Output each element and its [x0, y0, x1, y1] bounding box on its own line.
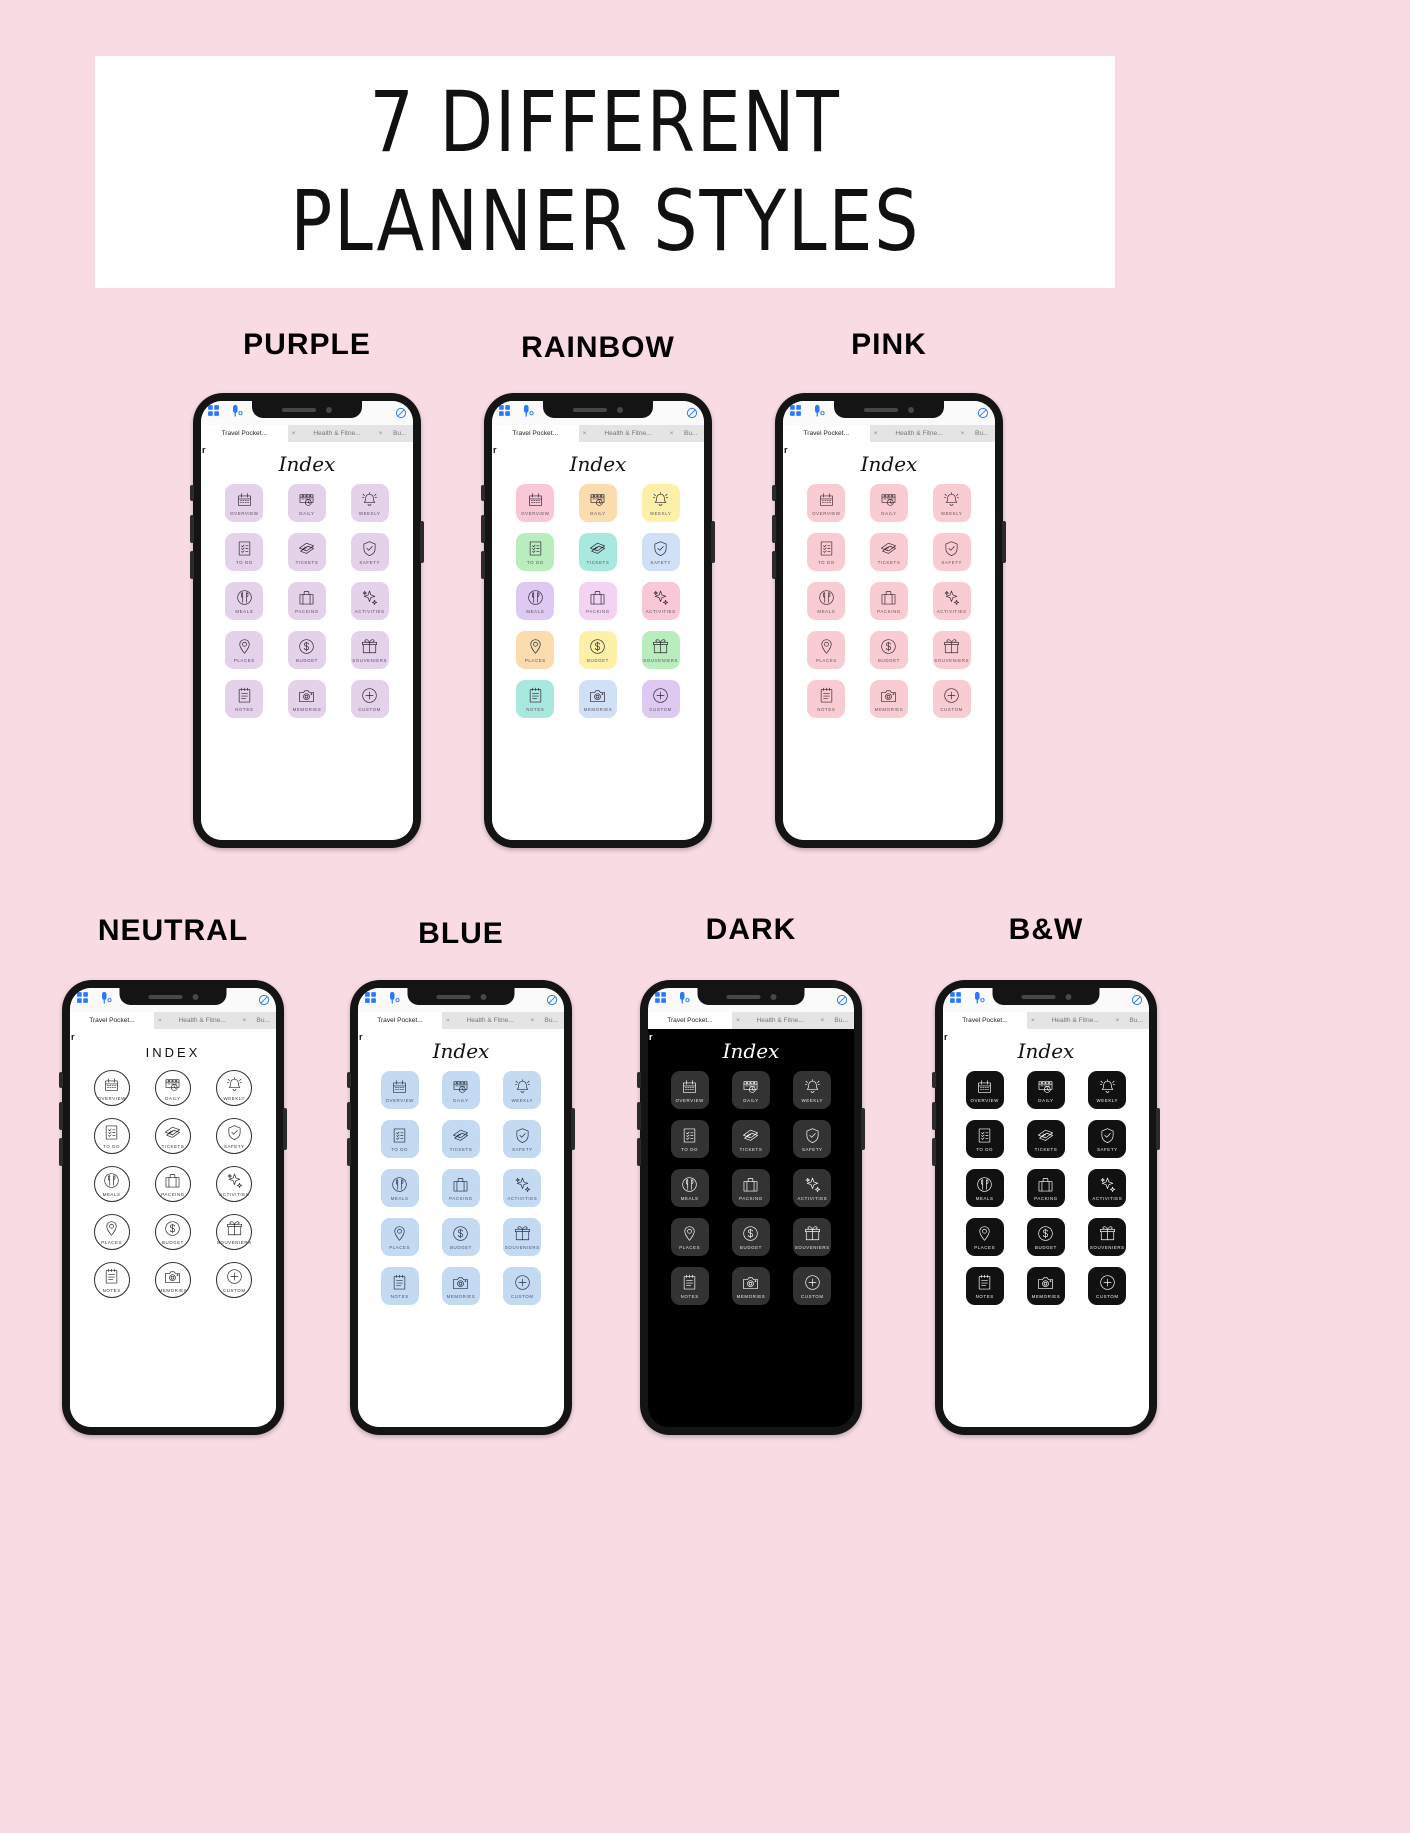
tile-label: MEALS: [976, 1196, 994, 1201]
tile-surface: DAILY: [1027, 1071, 1065, 1109]
tile-label: PACKING: [586, 609, 610, 614]
gift-icon: [360, 637, 379, 656]
tile-surface: NOTES: [807, 680, 845, 718]
tile-label: SAFETY: [941, 560, 962, 565]
tile-label: DAILY: [1038, 1098, 1053, 1103]
index-tile-safety[interactable]: SAFETY: [351, 533, 389, 571]
tile-label: MEMORIES: [447, 1294, 476, 1299]
index-tile-tickets[interactable]: TICKETS: [442, 1120, 480, 1158]
tab-2[interactable]: Bu...: [250, 1012, 276, 1029]
phone-mockup-neutral: Travel Pocket Planner˅Travel Pocket...×H…: [62, 980, 284, 1435]
planner-page: IndexOVERVIEWDAILYWEEKLYTO DOTICKETSSAFE…: [783, 452, 995, 840]
index-tile-places[interactable]: PLACES: [225, 631, 263, 669]
no-entry-icon[interactable]: [836, 994, 848, 1006]
page-title: Index: [783, 452, 995, 476]
tile-surface: SAFETY: [793, 1120, 831, 1158]
phone-side-button: [637, 1072, 641, 1088]
index-tile-places[interactable]: PLACES: [381, 1218, 419, 1256]
page-edge-artifact: r: [784, 445, 788, 455]
index-tile-notes[interactable]: NOTES: [966, 1267, 1004, 1305]
tab-1[interactable]: Health & Fitne...: [454, 1012, 526, 1029]
tab-0[interactable]: Travel Pocket...: [648, 1012, 732, 1029]
no-entry-icon[interactable]: [686, 407, 698, 419]
phone-notch: [408, 988, 515, 1005]
tile-surface: ACTIVITIES: [793, 1169, 831, 1207]
index-tile-souveniers[interactable]: SOUVENIERS: [793, 1218, 831, 1256]
index-tile-activities[interactable]: ACTIVITIES: [351, 582, 389, 620]
tile-label: OVERVIEW: [97, 1096, 125, 1101]
tile-surface: MEALS: [94, 1166, 130, 1202]
page-edge-artifact: r: [71, 1032, 75, 1042]
index-icon-grid: OVERVIEWDAILYWEEKLYTO DOTICKETSSAFETYMEA…: [358, 1071, 564, 1305]
page-title: Index: [358, 1039, 564, 1063]
tile-label: WEEKLY: [512, 1098, 534, 1103]
map-pin-icon: [975, 1224, 994, 1243]
index-tile-meals[interactable]: MEALS: [807, 582, 845, 620]
suitcase-icon: [297, 588, 316, 607]
notepad-icon: [680, 1273, 699, 1292]
tab-close-icon[interactable]: ×: [666, 425, 678, 442]
index-tile-tickets[interactable]: TICKETS: [1027, 1120, 1065, 1158]
index-tile-memories[interactable]: MEMORIES: [579, 680, 617, 718]
checklist-icon: [680, 1126, 699, 1145]
index-tile-packing[interactable]: PACKING: [1027, 1169, 1065, 1207]
calendar-icon: [680, 1077, 699, 1096]
tile-label: ACTIVITIES: [646, 609, 676, 614]
index-tile-packing[interactable]: PACKING: [155, 1166, 191, 1202]
tab-close-icon[interactable]: ×: [238, 1012, 250, 1029]
index-tile-souveniers[interactable]: SOUVENIERS: [503, 1218, 541, 1256]
tile-label: SAFETY: [1097, 1147, 1118, 1152]
index-tile-budget[interactable]: BUDGET: [870, 631, 908, 669]
grid-apps-icon[interactable]: [207, 404, 220, 422]
tile-surface: MEALS: [516, 582, 554, 620]
phone-notch: [698, 988, 805, 1005]
index-tile-meals[interactable]: MEALS: [516, 582, 554, 620]
index-tile-places[interactable]: PLACES: [671, 1218, 709, 1256]
stylus-pen-icon[interactable]: [230, 404, 244, 423]
index-tile-custom[interactable]: CUSTOM: [351, 680, 389, 718]
index-tile-activities[interactable]: ACTIVITIES: [503, 1169, 541, 1207]
index-tile-weekly[interactable]: WEEKLY: [351, 484, 389, 522]
phone-side-button: [190, 551, 194, 579]
tab-2[interactable]: Bu...: [969, 425, 995, 442]
tile-surface: TO DO: [381, 1120, 419, 1158]
index-tile-meals[interactable]: MEALS: [225, 582, 263, 620]
index-tile-places[interactable]: PLACES: [516, 631, 554, 669]
index-tile-souveniers[interactable]: SOUVENIERS: [642, 631, 680, 669]
tab-close-icon[interactable]: ×: [816, 1012, 828, 1029]
index-tile-activities[interactable]: ACTIVITIES: [793, 1169, 831, 1207]
tab-close-icon[interactable]: ×: [957, 425, 969, 442]
tab-1[interactable]: Health & Fitne...: [591, 425, 666, 442]
grid-apps-icon[interactable]: [654, 991, 667, 1009]
tile-label: NOTES: [235, 707, 253, 712]
no-entry-icon[interactable]: [546, 994, 558, 1006]
dollar-coin-icon: [741, 1224, 760, 1243]
index-tile-daily[interactable]: DAILY: [288, 484, 326, 522]
page-edge-artifact: r: [493, 445, 497, 455]
index-tile-notes[interactable]: NOTES: [516, 680, 554, 718]
grid-apps-icon[interactable]: [76, 991, 89, 1009]
tile-surface: TO DO: [94, 1118, 130, 1154]
tile-label: DAILY: [590, 511, 605, 516]
stylus-pen-icon[interactable]: [677, 991, 691, 1010]
index-tile-overview[interactable]: OVERVIEW: [225, 484, 263, 522]
shield-icon: [360, 539, 379, 558]
index-icon-grid: OVERVIEWDAILYWEEKLYTO DOTICKETSSAFETYMEA…: [70, 1070, 276, 1298]
dollar-coin-icon: [588, 637, 607, 656]
tab-0[interactable]: Travel Pocket...: [783, 425, 870, 442]
index-tile-packing[interactable]: PACKING: [870, 582, 908, 620]
index-tile-todo[interactable]: TO DO: [807, 533, 845, 571]
tab-bar: Travel Pocket...×Health & Fitne...×Bu...: [492, 425, 704, 442]
index-tile-overview[interactable]: OVERVIEW: [94, 1070, 130, 1106]
sparkle-icon: [225, 1171, 244, 1190]
tile-surface: DAILY: [155, 1070, 191, 1106]
tile-label: SOUVENIERS: [505, 1245, 540, 1250]
index-tile-custom[interactable]: CUSTOM: [503, 1267, 541, 1305]
index-tile-daily[interactable]: DAILY: [1027, 1071, 1065, 1109]
index-tile-packing[interactable]: PACKING: [732, 1169, 770, 1207]
tab-close-icon[interactable]: ×: [1111, 1012, 1123, 1029]
phone-mockup-pink: Travel Pocket Planner˅Travel Pocket...×H…: [775, 393, 1003, 848]
stylus-pen-icon[interactable]: [387, 991, 401, 1010]
index-tile-budget[interactable]: BUDGET: [1027, 1218, 1065, 1256]
index-tile-packing[interactable]: PACKING: [442, 1169, 480, 1207]
index-tile-tickets[interactable]: TICKETS: [579, 533, 617, 571]
index-tile-todo[interactable]: TO DO: [516, 533, 554, 571]
index-tile-budget[interactable]: BUDGET: [732, 1218, 770, 1256]
tile-surface: BUDGET: [579, 631, 617, 669]
index-tile-souveniers[interactable]: SOUVENIERS: [216, 1214, 252, 1250]
tile-label: MEMORIES: [584, 707, 613, 712]
phone-mockup-dark: Travel Pocket Planner˅Travel Pocket...×H…: [640, 980, 862, 1435]
index-tile-todo[interactable]: TO DO: [966, 1120, 1004, 1158]
index-tile-memories[interactable]: MEMORIES: [1027, 1267, 1065, 1305]
index-tile-overview[interactable]: OVERVIEW: [966, 1071, 1004, 1109]
index-tile-tickets[interactable]: TICKETS: [288, 533, 326, 571]
tile-surface: OVERVIEW: [671, 1071, 709, 1109]
index-tile-todo[interactable]: TO DO: [381, 1120, 419, 1158]
tile-label: TICKETS: [878, 560, 901, 565]
phone-screen: Travel Pocket Planner˅Travel Pocket...×H…: [492, 401, 704, 840]
phone-side-button: [481, 551, 485, 579]
tile-surface: OVERVIEW: [807, 484, 845, 522]
tab-1[interactable]: Health & Fitne...: [166, 1012, 238, 1029]
grid-apps-icon[interactable]: [789, 404, 802, 422]
tile-label: ACTIVITIES: [219, 1192, 249, 1197]
camera-icon: [879, 686, 898, 705]
index-tile-budget[interactable]: BUDGET: [288, 631, 326, 669]
index-tile-tickets[interactable]: TICKETS: [870, 533, 908, 571]
index-tile-overview[interactable]: OVERVIEW: [671, 1071, 709, 1109]
index-tile-budget[interactable]: BUDGET: [442, 1218, 480, 1256]
tile-surface: PACKING: [579, 582, 617, 620]
tile-label: TO DO: [681, 1147, 698, 1152]
tile-surface: OVERVIEW: [225, 484, 263, 522]
tile-label: BUDGET: [1035, 1245, 1057, 1250]
tile-surface: SOUVENIERS: [503, 1218, 541, 1256]
tile-surface: DAILY: [732, 1071, 770, 1109]
stylus-pen-icon[interactable]: [521, 404, 535, 423]
index-tile-safety[interactable]: SAFETY: [1088, 1120, 1126, 1158]
tile-surface: MEMORIES: [155, 1262, 191, 1298]
tab-close-icon[interactable]: ×: [1027, 1012, 1039, 1029]
index-tile-overview[interactable]: OVERVIEW: [381, 1071, 419, 1109]
calendar-icon: [975, 1077, 994, 1096]
index-tile-overview[interactable]: OVERVIEW: [516, 484, 554, 522]
index-tile-weekly[interactable]: WEEKLY: [216, 1070, 252, 1106]
index-tile-daily[interactable]: DAILY: [155, 1070, 191, 1106]
no-entry-icon[interactable]: [395, 407, 407, 419]
notepad-icon: [526, 686, 545, 705]
index-tile-budget[interactable]: BUDGET: [579, 631, 617, 669]
no-entry-icon[interactable]: [258, 994, 270, 1006]
bell-icon: [1098, 1077, 1117, 1096]
index-tile-safety[interactable]: SAFETY: [793, 1120, 831, 1158]
tile-surface: SOUVENIERS: [642, 631, 680, 669]
phone-side-button: [59, 1102, 63, 1130]
phone-side-button: [481, 515, 485, 543]
tile-label: SOUVENIERS: [1090, 1245, 1125, 1250]
index-tile-weekly[interactable]: WEEKLY: [933, 484, 971, 522]
phone-side-button: [481, 485, 485, 501]
index-tile-daily[interactable]: DAILY: [732, 1071, 770, 1109]
tile-label: DAILY: [881, 511, 896, 516]
phone-power-button: [571, 1108, 575, 1150]
suitcase-icon: [163, 1171, 182, 1190]
index-tile-activities[interactable]: ACTIVITIES: [1088, 1169, 1126, 1207]
index-tile-todo[interactable]: TO DO: [671, 1120, 709, 1158]
index-tile-notes[interactable]: NOTES: [671, 1267, 709, 1305]
index-tile-memories[interactable]: MEMORIES: [442, 1267, 480, 1305]
tile-surface: TO DO: [671, 1120, 709, 1158]
index-tile-activities[interactable]: ACTIVITIES: [933, 582, 971, 620]
index-tile-tickets[interactable]: TICKETS: [732, 1120, 770, 1158]
tile-label: BUDGET: [587, 658, 609, 663]
tile-label: DAILY: [299, 511, 314, 516]
tile-label: DAILY: [165, 1096, 180, 1101]
tab-0[interactable]: Travel Pocket...: [70, 1012, 154, 1029]
tab-2[interactable]: Bu...: [387, 425, 413, 442]
tile-label: MEMORIES: [875, 707, 904, 712]
tile-surface: CUSTOM: [216, 1262, 252, 1298]
index-tile-daily[interactable]: DAILY: [442, 1071, 480, 1109]
grid-apps-icon[interactable]: [364, 991, 377, 1009]
plate-cutlery-icon: [390, 1175, 409, 1194]
index-tile-meals[interactable]: MEALS: [671, 1169, 709, 1207]
checklist-icon: [390, 1126, 409, 1145]
tile-label: SOUVENIERS: [217, 1240, 252, 1245]
gift-icon: [513, 1224, 532, 1243]
tile-surface: MEALS: [225, 582, 263, 620]
tile-label: PACKING: [877, 609, 901, 614]
index-tile-tickets[interactable]: TICKETS: [155, 1118, 191, 1154]
index-tile-daily[interactable]: DAILY: [579, 484, 617, 522]
tab-close-icon[interactable]: ×: [870, 425, 882, 442]
tickets-icon: [163, 1123, 182, 1142]
grid-apps-icon[interactable]: [498, 404, 511, 422]
plate-cutlery-icon: [526, 588, 545, 607]
tile-label: ACTIVITIES: [507, 1196, 537, 1201]
tab-2[interactable]: Bu...: [1123, 1012, 1149, 1029]
index-tile-custom[interactable]: CUSTOM: [933, 680, 971, 718]
tab-0[interactable]: Travel Pocket...: [943, 1012, 1027, 1029]
index-tile-overview[interactable]: OVERVIEW: [807, 484, 845, 522]
index-tile-souveniers[interactable]: SOUVENIERS: [351, 631, 389, 669]
index-tile-souveniers[interactable]: SOUVENIERS: [933, 631, 971, 669]
title-line-2: PLANNER STYLES: [290, 172, 920, 271]
tab-close-icon[interactable]: ×: [154, 1012, 166, 1029]
tile-surface: TICKETS: [870, 533, 908, 571]
planner-page: IndexOVERVIEWDAILYWEEKLYTO DOTICKETSSAFE…: [201, 452, 413, 840]
index-tile-places[interactable]: PLACES: [94, 1214, 130, 1250]
tile-label: MEALS: [235, 609, 253, 614]
tab-close-icon[interactable]: ×: [375, 425, 387, 442]
index-tile-todo[interactable]: TO DO: [94, 1118, 130, 1154]
index-tile-packing[interactable]: PACKING: [579, 582, 617, 620]
tab-0[interactable]: Travel Pocket...: [201, 425, 288, 442]
tile-label: OVERVIEW: [230, 511, 258, 516]
tab-2[interactable]: Bu...: [678, 425, 704, 442]
page-title: INDEX: [70, 1045, 276, 1060]
title-line-1: 7 DIFFERENT: [369, 73, 840, 172]
tile-label: TICKETS: [162, 1144, 185, 1149]
tab-bar: Travel Pocket...×Health & Fitne...×Bu...: [943, 1012, 1149, 1029]
phone-mockup-purple: Travel Pocket Planner˅Travel Pocket...×H…: [193, 393, 421, 848]
index-tile-memories[interactable]: MEMORIES: [155, 1262, 191, 1298]
tab-close-icon[interactable]: ×: [442, 1012, 454, 1029]
tickets-icon: [879, 539, 898, 558]
suitcase-icon: [451, 1175, 470, 1194]
tile-surface: TICKETS: [579, 533, 617, 571]
daily-calendar-icon: [297, 490, 316, 509]
index-tile-notes[interactable]: NOTES: [225, 680, 263, 718]
tab-bar: Travel Pocket...×Health & Fitne...×Bu...: [201, 425, 413, 442]
gift-icon: [225, 1219, 244, 1238]
index-tile-daily[interactable]: DAILY: [870, 484, 908, 522]
index-tile-weekly[interactable]: WEEKLY: [793, 1071, 831, 1109]
tab-close-icon[interactable]: ×: [288, 425, 300, 442]
index-tile-meals[interactable]: MEALS: [94, 1166, 130, 1202]
index-tile-meals[interactable]: MEALS: [966, 1169, 1004, 1207]
index-tile-memories[interactable]: MEMORIES: [732, 1267, 770, 1305]
index-tile-notes[interactable]: NOTES: [94, 1262, 130, 1298]
index-tile-packing[interactable]: PACKING: [288, 582, 326, 620]
calendar-icon: [102, 1075, 121, 1094]
index-tile-weekly[interactable]: WEEKLY: [503, 1071, 541, 1109]
gift-icon: [651, 637, 670, 656]
index-tile-places[interactable]: PLACES: [966, 1218, 1004, 1256]
stylus-pen-icon[interactable]: [99, 991, 113, 1010]
camera-icon: [297, 686, 316, 705]
index-tile-notes[interactable]: NOTES: [807, 680, 845, 718]
index-tile-custom[interactable]: CUSTOM: [1088, 1267, 1126, 1305]
index-tile-safety[interactable]: SAFETY: [503, 1120, 541, 1158]
tab-2[interactable]: Bu...: [828, 1012, 854, 1029]
page-edge-artifact: r: [202, 445, 206, 455]
index-tile-custom[interactable]: CUSTOM: [216, 1262, 252, 1298]
tile-surface: WEEKLY: [933, 484, 971, 522]
tab-close-icon[interactable]: ×: [579, 425, 591, 442]
index-tile-safety[interactable]: SAFETY: [216, 1118, 252, 1154]
tab-close-icon[interactable]: ×: [526, 1012, 538, 1029]
tile-label: CUSTOM: [223, 1288, 246, 1293]
index-tile-activities[interactable]: ACTIVITIES: [642, 582, 680, 620]
tile-label: NOTES: [103, 1288, 121, 1293]
tab-1[interactable]: Health & Fitne...: [882, 425, 957, 442]
tile-label: MEALS: [391, 1196, 409, 1201]
tile-surface: TO DO: [225, 533, 263, 571]
index-tile-memories[interactable]: MEMORIES: [870, 680, 908, 718]
index-tile-budget[interactable]: BUDGET: [155, 1214, 191, 1250]
index-tile-todo[interactable]: TO DO: [225, 533, 263, 571]
tab-0[interactable]: Travel Pocket...: [358, 1012, 442, 1029]
plus-circle-icon: [942, 686, 961, 705]
index-tile-safety[interactable]: SAFETY: [933, 533, 971, 571]
tile-surface: CUSTOM: [793, 1267, 831, 1305]
index-tile-custom[interactable]: CUSTOM: [793, 1267, 831, 1305]
tile-label: TICKETS: [296, 560, 319, 565]
gift-icon: [1098, 1224, 1117, 1243]
index-tile-safety[interactable]: SAFETY: [642, 533, 680, 571]
grid-apps-icon[interactable]: [949, 991, 962, 1009]
style-label-blue: BLUE: [350, 917, 572, 951]
tile-label: PACKING: [295, 609, 319, 614]
tile-label: PLACES: [816, 658, 837, 663]
index-tile-weekly[interactable]: WEEKLY: [642, 484, 680, 522]
stylus-pen-icon[interactable]: [812, 404, 826, 423]
tile-surface: SAFETY: [1088, 1120, 1126, 1158]
index-tile-notes[interactable]: NOTES: [381, 1267, 419, 1305]
tab-2[interactable]: Bu...: [538, 1012, 564, 1029]
no-entry-icon[interactable]: [977, 407, 989, 419]
index-tile-memories[interactable]: MEMORIES: [288, 680, 326, 718]
stylus-pen-icon[interactable]: [972, 991, 986, 1010]
tab-0[interactable]: Travel Pocket...: [492, 425, 579, 442]
phone-power-button: [420, 521, 424, 563]
tile-label: OVERVIEW: [970, 1098, 998, 1103]
tile-surface: PACKING: [442, 1169, 480, 1207]
tab-1[interactable]: Health & Fitne...: [300, 425, 375, 442]
tile-label: PLACES: [101, 1240, 122, 1245]
no-entry-icon[interactable]: [1131, 994, 1143, 1006]
index-tile-activities[interactable]: ACTIVITIES: [216, 1166, 252, 1202]
tile-surface: ACTIVITIES: [933, 582, 971, 620]
sparkle-icon: [942, 588, 961, 607]
index-tile-weekly[interactable]: WEEKLY: [1088, 1071, 1126, 1109]
index-tile-souveniers[interactable]: SOUVENIERS: [1088, 1218, 1126, 1256]
tab-1[interactable]: Health & Fitne...: [744, 1012, 816, 1029]
index-tile-meals[interactable]: MEALS: [381, 1169, 419, 1207]
index-tile-custom[interactable]: CUSTOM: [642, 680, 680, 718]
phone-side-button: [190, 485, 194, 501]
tile-label: MEMORIES: [293, 707, 322, 712]
tile-surface: PLACES: [516, 631, 554, 669]
speaker-grille: [148, 995, 182, 999]
tab-close-icon[interactable]: ×: [732, 1012, 744, 1029]
page-title: Index: [943, 1039, 1149, 1063]
phone-screen: Travel Pocket Planner˅Travel Pocket...×H…: [783, 401, 995, 840]
page-title: Index: [492, 452, 704, 476]
index-tile-places[interactable]: PLACES: [807, 631, 845, 669]
tile-surface: MEALS: [381, 1169, 419, 1207]
suitcase-icon: [879, 588, 898, 607]
tile-surface: OVERVIEW: [966, 1071, 1004, 1109]
tab-1[interactable]: Health & Fitne...: [1039, 1012, 1111, 1029]
phone-side-button: [347, 1138, 351, 1166]
